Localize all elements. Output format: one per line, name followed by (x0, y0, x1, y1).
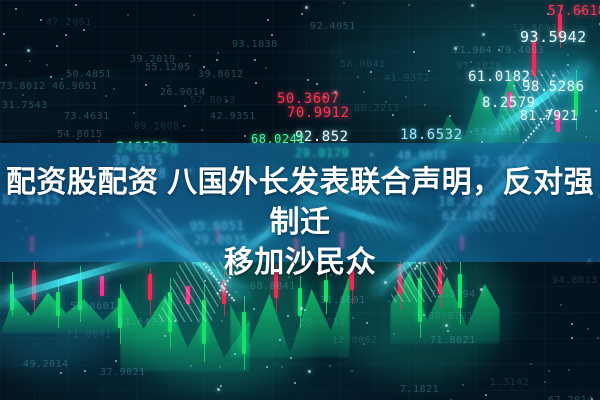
background-number: 73.4631 (64, 112, 110, 122)
background-number: 71.8021 (430, 336, 476, 346)
particle-dot (56, 45, 58, 47)
particle-dot (447, 330, 449, 332)
headline-line-1: 配资股配资 八国外长发表联合声明，反对强制迁 (0, 163, 600, 243)
price-label: 18.6532 (400, 128, 463, 142)
particle-dot (279, 339, 281, 341)
price-label: 93.5942 (520, 30, 587, 45)
particle-dot (244, 135, 246, 137)
particle-dot (423, 314, 425, 316)
particle-dot (471, 4, 474, 7)
particle-dot (84, 370, 86, 372)
particle-dot (83, 29, 85, 31)
particle-dot (115, 360, 117, 362)
particle-dot (40, 19, 42, 21)
particle-dot (480, 288, 483, 291)
particle-dot (428, 70, 430, 72)
particle-dot (29, 60, 31, 62)
background-number: 92.4051 (310, 22, 356, 32)
particle-dot (60, 372, 62, 374)
background-number: 37.9021 (100, 368, 146, 378)
particle-dot (552, 74, 555, 77)
particle-dot (294, 382, 296, 384)
particle-dot (482, 33, 485, 36)
particle-dot (189, 55, 191, 57)
particle-dot (316, 83, 318, 85)
particle-dot (127, 14, 129, 16)
background-number: 26.9014 (160, 88, 206, 98)
background-number: 1.3142 (490, 378, 529, 388)
background-number: 71.0041 (66, 330, 112, 340)
particle-dot (133, 112, 135, 114)
particle-dot (568, 369, 570, 371)
particle-dot (305, 6, 308, 9)
background-number: 73.8012 46.9051 (0, 82, 98, 92)
particle-dot (449, 115, 451, 117)
particle-dot (281, 366, 283, 368)
particle-dot (541, 74, 543, 76)
particle-dot (113, 88, 115, 90)
particle-dot (597, 337, 599, 339)
particle-dot (220, 385, 222, 387)
background-number: 55.1205 (145, 63, 191, 73)
particle-dot (445, 324, 448, 327)
particle-dot (393, 333, 395, 335)
headline-line-2: 移加沙民众 (0, 243, 600, 283)
particle-dot (595, 110, 597, 112)
particle-dot (587, 328, 589, 330)
background-number: 67.2014 (548, 396, 594, 400)
particle-dot (255, 82, 257, 84)
particle-dot (235, 291, 237, 293)
background-number: 73.3794 (430, 290, 476, 300)
particle-dot (424, 104, 426, 106)
page-title: 配资股配资 八国外长发表联合声明，反对强制迁 移加沙民众 (0, 163, 600, 283)
particle-dot (548, 370, 550, 372)
price-label: 81.7921 (520, 110, 578, 123)
particle-dot (203, 66, 205, 68)
background-number: 31.8601 (320, 296, 366, 306)
particle-dot (343, 2, 345, 4)
particle-dot (5, 64, 7, 66)
particle-dot (266, 366, 268, 368)
particle-dot (216, 59, 218, 61)
particle-dot (267, 19, 269, 21)
background-number: 68.8041 (250, 282, 296, 292)
background-number: 54.8015 (57, 130, 103, 140)
particle-dot (15, 8, 17, 10)
background-number: 7.1821 (400, 385, 439, 395)
particle-dot (201, 129, 203, 131)
particle-dot (470, 131, 472, 133)
background-number: 58.0041 (340, 60, 386, 70)
particle-dot (27, 313, 29, 315)
particle-dot (217, 388, 220, 391)
background-number: 71.904 79.4003 (453, 46, 544, 56)
particle-dot (352, 317, 354, 319)
price-label: 50.3607 (277, 92, 340, 106)
background-number: 88.8791 (428, 312, 474, 322)
background-number: 17.3019 (474, 128, 520, 138)
particle-dot (329, 365, 331, 367)
particle-dot (98, 140, 100, 142)
particle-dot (61, 78, 63, 80)
particle-dot (300, 307, 303, 310)
particle-dot (217, 52, 219, 54)
particle-dot (193, 14, 195, 16)
particle-dot (50, 76, 52, 78)
background-number: 55.6012 (300, 318, 346, 328)
particle-dot (585, 136, 587, 138)
particle-dot (174, 320, 176, 322)
particle-dot (413, 51, 415, 53)
particle-dot (571, 337, 573, 339)
background-number: 49.2014 (23, 360, 69, 370)
background-number: 12.8062 (332, 336, 378, 346)
particle-dot (405, 96, 407, 98)
particle-dot (567, 64, 569, 66)
particle-dot (363, 91, 365, 93)
particle-dot (304, 309, 306, 311)
particle-dot (145, 84, 147, 86)
background-number: 80.2213 (354, 104, 400, 114)
particle-dot (184, 105, 186, 107)
particle-dot (65, 34, 67, 36)
particle-dot (308, 370, 311, 373)
particle-dot (3, 33, 5, 35)
background-number: 41.9372 (384, 74, 430, 84)
background-number: 89.1008 (134, 122, 180, 132)
particle-dot (271, 34, 273, 36)
particle-dot (105, 95, 107, 97)
particle-dot (234, 353, 236, 355)
particle-dot (27, 49, 30, 52)
background-number: 47.2061 (46, 18, 92, 28)
particle-dot (357, 76, 359, 78)
particle-dot (254, 59, 256, 61)
price-label: 98.5286 (522, 80, 585, 94)
background-number: 31.7543 (2, 101, 48, 111)
particle-dot (370, 71, 372, 73)
banner-image: 47.206192.405193.103817.560171.904 79.40… (0, 0, 600, 400)
particle-dot (287, 315, 289, 317)
particle-dot (560, 304, 562, 306)
background-number: 39.8612 (198, 70, 244, 80)
particle-dot (265, 67, 267, 69)
particle-dot (408, 4, 410, 6)
background-number: 93.1038 (232, 40, 278, 50)
particle-dot (253, 308, 255, 310)
particle-dot (221, 320, 223, 322)
particle-dot (22, 94, 24, 96)
particle-dot (530, 363, 532, 365)
particle-dot (392, 114, 394, 116)
price-label: 57.6618 (548, 5, 600, 18)
particle-dot (183, 125, 185, 127)
background-number: 42.9351 (210, 112, 256, 122)
background-number: 50.4851 (66, 70, 112, 80)
particle-dot (307, 79, 309, 81)
particle-dot (485, 394, 487, 396)
particle-dot (366, 322, 368, 324)
price-label: 8.2579 (482, 96, 536, 110)
price-label: 70.9912 (287, 106, 350, 120)
background-number: 59.8601 (70, 302, 116, 312)
particle-dot (513, 85, 515, 87)
particle-dot (351, 370, 353, 372)
particle-dot (567, 54, 569, 56)
background-number: 51.6473 (118, 318, 164, 328)
particle-dot (462, 384, 464, 386)
particle-dot (46, 64, 48, 66)
particle-dot (164, 335, 166, 337)
particle-dot (46, 288, 48, 290)
particle-dot (571, 323, 573, 325)
particle-dot (290, 357, 292, 359)
particle-dot (301, 13, 303, 15)
particle-dot (75, 4, 77, 6)
particle-dot (544, 381, 546, 383)
particle-dot (190, 365, 192, 367)
particle-dot (219, 366, 221, 368)
